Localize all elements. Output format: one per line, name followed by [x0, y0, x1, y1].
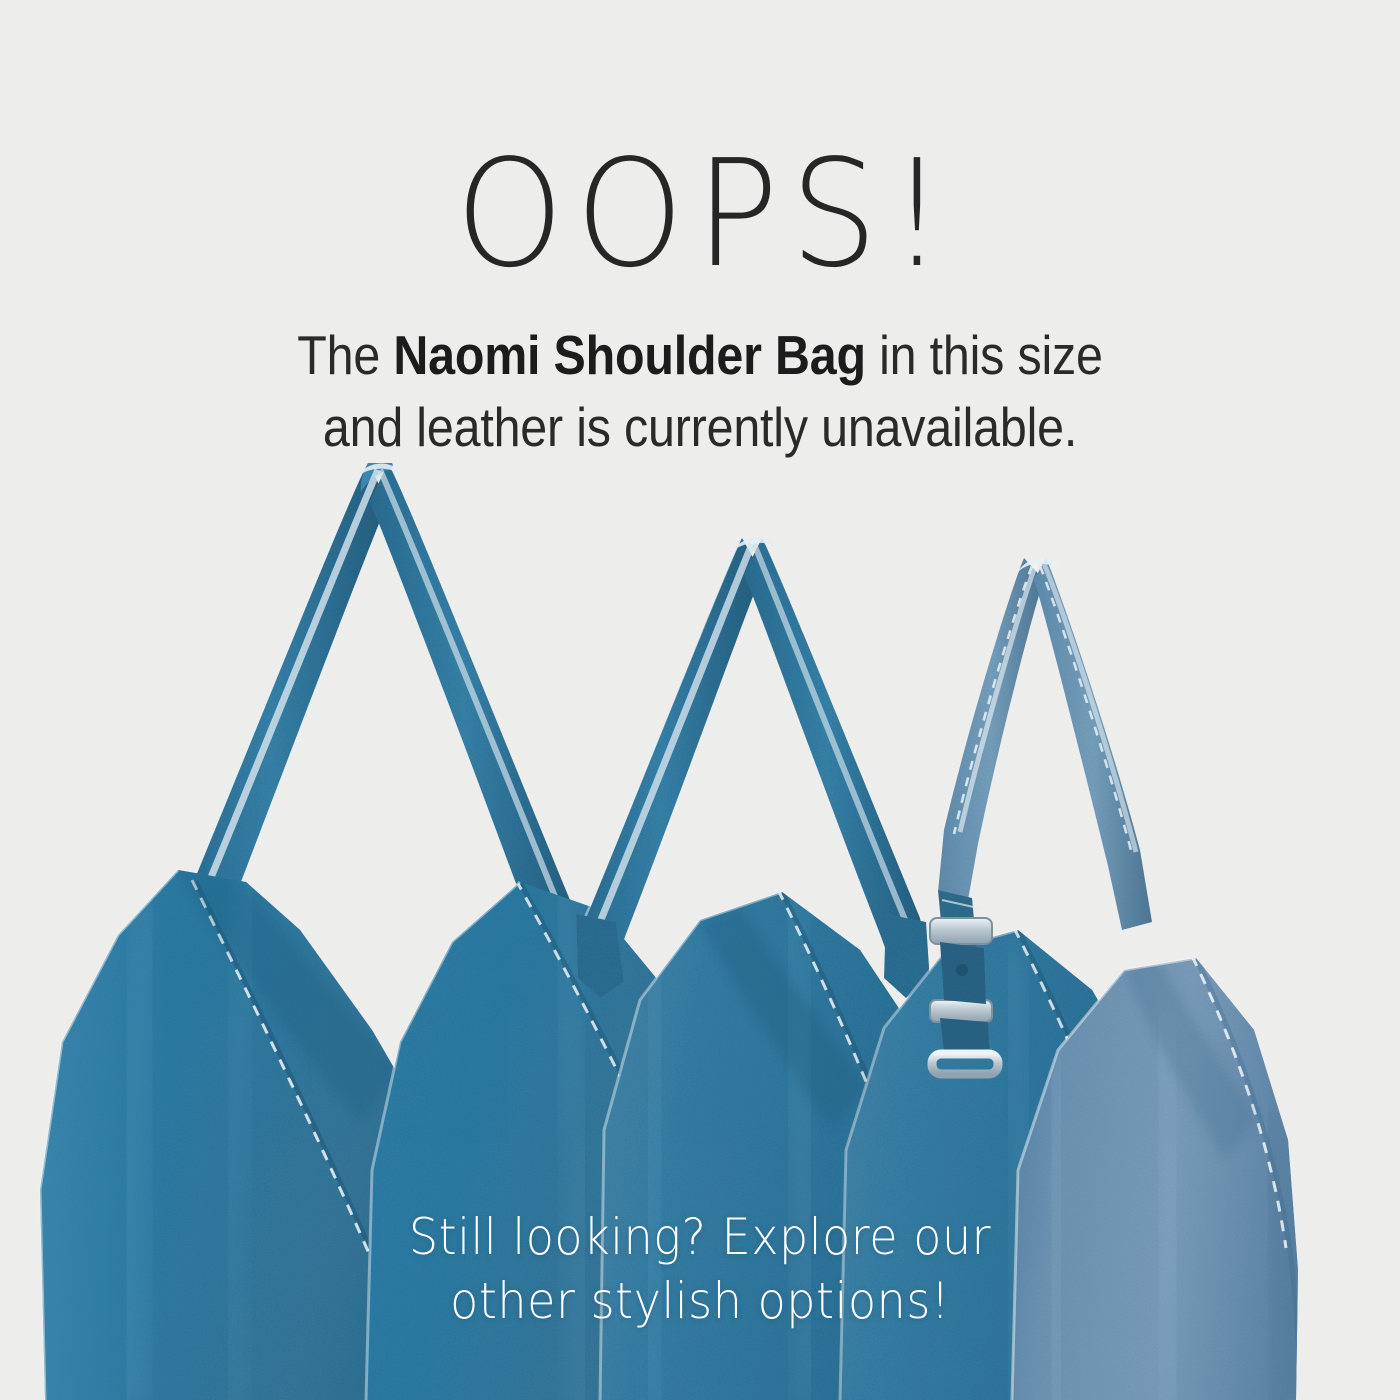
message-suffix: in this size — [866, 324, 1103, 386]
unavailable-message: The Naomi Shoulder Bag in this size and … — [84, 320, 1316, 463]
cta-line-1: Still looking? Explore our — [409, 1208, 991, 1266]
message-prefix: The — [297, 324, 393, 386]
error-page-canvas: OOPS! The Naomi Shoulder Bag in this siz… — [0, 0, 1400, 1400]
message-line-1: The Naomi Shoulder Bag in this size — [297, 324, 1102, 386]
message-line-2: and leather is currently unavailable. — [323, 396, 1077, 458]
product-name: Naomi Shoulder Bag — [393, 324, 866, 386]
cta-line-2: other stylish options! — [450, 1272, 950, 1330]
page-title: OOPS! — [49, 140, 1351, 288]
explore-options-callout[interactable]: Still looking? Explore our other stylish… — [56, 1205, 1344, 1333]
